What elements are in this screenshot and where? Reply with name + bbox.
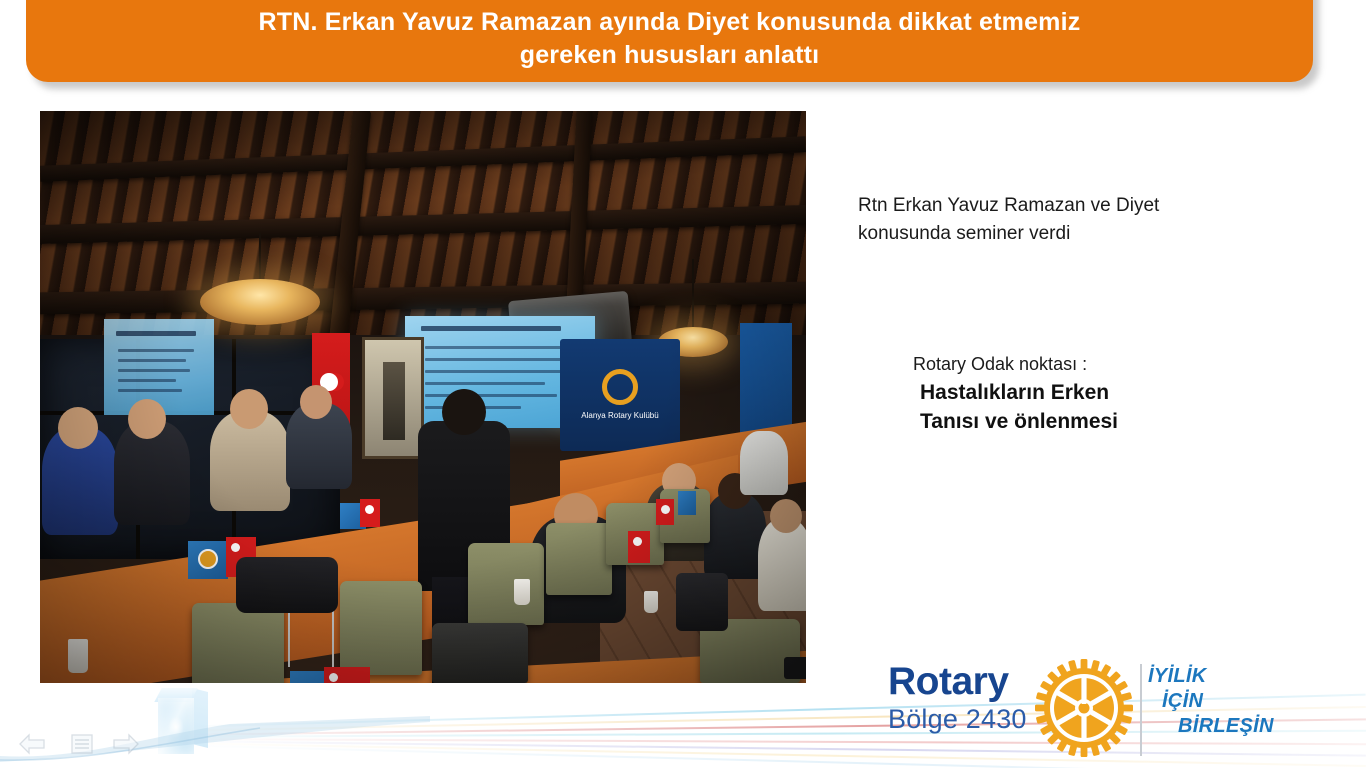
photo-speaker-head bbox=[442, 389, 486, 435]
next-slide-icon[interactable] bbox=[112, 732, 140, 761]
slideshow-nav-controls[interactable] bbox=[18, 728, 148, 760]
slide-title-banner: RTN. Erkan Yavuz Ramazan ayında Diyet ko… bbox=[26, 0, 1313, 82]
photo-rotary-emblem-icon bbox=[198, 549, 218, 569]
slide-menu-icon[interactable] bbox=[70, 733, 94, 760]
rotary-name: Rotary bbox=[888, 662, 1038, 701]
photo-attendee-head bbox=[58, 407, 98, 449]
focus-area-block: Rotary Odak noktası : Hastalıkların Erke… bbox=[913, 352, 1333, 437]
photo-chair bbox=[192, 603, 284, 683]
focus-area-label: Rotary Odak noktası : bbox=[913, 352, 1333, 377]
photo-chair bbox=[340, 581, 422, 675]
rotary-gear-icon bbox=[1034, 658, 1134, 758]
photo-cup bbox=[644, 591, 658, 613]
photo-rotary-banner-text: Alanya Rotary Kulübü bbox=[560, 411, 680, 420]
photo-turkish-table-flag bbox=[360, 499, 380, 527]
photo-attendee-head bbox=[230, 389, 268, 429]
tagline-line-2: İÇİN bbox=[1148, 689, 1298, 714]
photo-pendant-lamp bbox=[200, 279, 320, 325]
rotary-logo: Rotary Bölge 2430 bbox=[888, 658, 1288, 762]
tagline-line-1: İYİLİK bbox=[1148, 664, 1298, 689]
photo-chair bbox=[546, 523, 612, 595]
photo-rotary-banner-gear-icon bbox=[602, 369, 638, 405]
photo-bag bbox=[236, 557, 338, 613]
rotary-wordmark: Rotary Bölge 2430 bbox=[888, 662, 1038, 733]
photo-cup bbox=[68, 639, 88, 673]
tagline-line-3: BİRLEŞİN bbox=[1148, 714, 1298, 739]
photo-attendee bbox=[740, 431, 788, 495]
rotary-tagline: İYİLİK İÇİN BİRLEŞİN bbox=[1148, 664, 1298, 739]
logo-divider bbox=[1140, 664, 1142, 756]
photo-rotary-banner: Alanya Rotary Kulübü bbox=[560, 339, 680, 451]
photo-attendee-head bbox=[770, 499, 802, 533]
photo-attendee-head bbox=[128, 399, 166, 439]
photo-turkish-table-flag bbox=[628, 531, 650, 563]
photo-attendee bbox=[758, 519, 806, 611]
meeting-photo: Alanya Rotary Kulübü bbox=[40, 111, 806, 683]
photo-turkish-table-flag bbox=[656, 499, 674, 525]
photo-rotary-table-flag bbox=[678, 491, 696, 515]
photo-attendee-head bbox=[300, 385, 332, 419]
rotary-district: Bölge 2430 bbox=[888, 706, 1038, 733]
photo-secondary-projection-screen bbox=[104, 319, 214, 415]
photo-flag-pole bbox=[288, 611, 290, 667]
photo-ataturk-poster bbox=[362, 337, 424, 459]
lead-paragraph: Rtn Erkan Yavuz Ramazan ve Diyet konusun… bbox=[858, 192, 1258, 247]
photo-flag-pole bbox=[332, 609, 334, 667]
photo-cup bbox=[514, 579, 530, 605]
slide-title: RTN. Erkan Yavuz Ramazan ayında Diyet ko… bbox=[170, 6, 1170, 72]
photo-lamp-cord bbox=[259, 233, 261, 281]
previous-slide-icon[interactable] bbox=[18, 732, 46, 761]
photo-bag bbox=[676, 573, 728, 631]
photo-chair bbox=[468, 543, 544, 625]
focus-area-value: Hastalıkların Erken Tanısı ve önlenmesi bbox=[913, 379, 1333, 437]
photo-lamp-cord bbox=[692, 259, 694, 331]
